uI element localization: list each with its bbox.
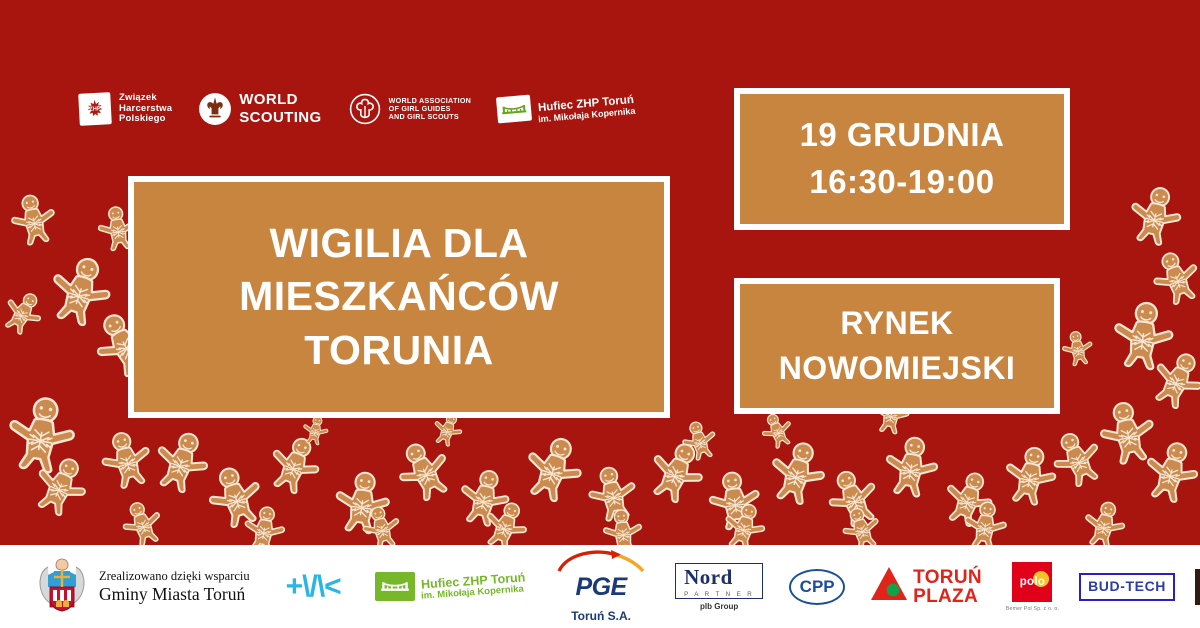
poster-canvas: ZHP Związek Harcerstwa Polskiego WORLD (0, 0, 1200, 628)
gingerbread-man-cookie-icon (1090, 394, 1166, 470)
gingerbread-man-cookie-icon (834, 500, 889, 545)
gingerbread-man-cookie-icon (1057, 327, 1099, 369)
gingerbread-cookie (956, 497, 1013, 545)
gingerbread-cookie (140, 421, 221, 505)
event-location-text: RYNEK NOWOMIEJSKI (779, 301, 1016, 391)
gingerbread-man-cookie-icon (1119, 179, 1192, 252)
sponsor-bud-tech-box: BUD-TECH (1079, 573, 1175, 601)
gingerbread-cookie (1137, 340, 1200, 422)
gingerbread-cookie (384, 430, 466, 515)
gingerbread-man-cookie-icon (0, 282, 53, 342)
gingerbread-man-cookie-icon (1142, 243, 1200, 312)
gingerbread-man-cookie-icon (196, 457, 274, 535)
svg-text:ZHP: ZHP (89, 106, 101, 113)
gingerbread-cookie (355, 500, 410, 545)
sponsor-nord-group: plb Group (700, 602, 738, 611)
sponsor-nord-partner: Nord P A R T N E R plb Group (675, 563, 763, 611)
top-partner-logos: ZHP Związek Harcerstwa Polskiego WORLD (78, 82, 636, 136)
gingerbread-man-cookie-icon (957, 497, 1013, 545)
gingerbread-man-cookie-icon (355, 500, 408, 545)
gingerbread-cookie (701, 466, 769, 539)
gingerbread-cookie (634, 430, 718, 516)
sponsor-polo-market: polo Bemer Pol Sp. z o. o. (1006, 562, 1059, 612)
gingerbread-cookie (757, 433, 838, 517)
gingerbread-cookie (1103, 295, 1183, 379)
gingerbread-cookie (35, 246, 125, 339)
gingerbread-man-cookie-icon (636, 430, 718, 512)
zhp-lily-shield-icon: ZHP (78, 92, 112, 126)
gingerbread-cookie (472, 493, 539, 545)
logo-world-scouting: WORLD SCOUTING (198, 91, 321, 127)
gingerbread-cookie (91, 424, 163, 500)
bridge-icon (375, 572, 415, 601)
sponsor-cpp: CPP (789, 569, 845, 605)
gingerbread-cookie (0, 282, 53, 346)
cpp-ellipse-icon: CPP (789, 569, 845, 605)
gingerbread-man-cookie-icon (257, 426, 333, 502)
gingerbread-man-cookie-icon (1040, 421, 1114, 495)
bridge-icon (497, 92, 531, 126)
gingerbread-cookie (0, 389, 87, 484)
sponsor-bud-tech-wordmark: BUD-TECH (1088, 578, 1166, 594)
event-date-text: 19 GRUDNIA 16:30-19:00 (800, 112, 1005, 206)
event-location-panel: RYNEK NOWOMIEJSKI (734, 278, 1060, 414)
gingerbread-cookie (1057, 327, 1100, 374)
logo-wagggs: WORLD ASSOCIATION OF GIRL GUIDES AND GIR… (348, 92, 472, 126)
sponsor-torun-plaza: TORUŃ PLAZA (869, 565, 982, 608)
gingerbread-man-cookie-icon (21, 445, 101, 525)
gingerbread-man-cookie-icon (758, 433, 837, 512)
gingerbread-man-cookie-icon (384, 430, 464, 510)
gingerbread-man-cookie-icon (815, 459, 891, 535)
logo-hufiec-zhp-torun-label: Hufiec ZHP Toruń im. Mikołaja Kopernika (538, 98, 636, 121)
logo-zwiazek-harcerstwa-polskiego: ZHP Związek Harcerstwa Polskiego (78, 92, 172, 126)
gingerbread-man-cookie-icon (1104, 295, 1183, 374)
gingerbread-man-cookie-icon (0, 389, 87, 479)
event-date-panel: 19 GRUDNIA 16:30-19:00 (734, 88, 1070, 230)
gingerbread-man-cookie-icon (1076, 495, 1134, 545)
sponsor-pge-wordmark: PGE (575, 573, 626, 602)
logo-world-scouting-label: WORLD SCOUTING (239, 91, 321, 127)
sponsor-cpp-wordmark: CPP (800, 577, 835, 597)
sponsor-nord-box: Nord P A R T N E R (675, 563, 763, 599)
event-title-panel: WIGILIA DLA MIESZKAŃCÓW TORUNIA (128, 176, 670, 418)
gingerbread-man-cookie-icon (1139, 340, 1200, 418)
gingerbread-cookie (1132, 433, 1200, 514)
event-title-text: WIGILIA DLA MIESZKAŃCÓW TORUNIA (239, 217, 559, 377)
gingerbread-cookie (994, 439, 1066, 515)
logo-wagggs-label: WORLD ASSOCIATION OF GIRL GUIDES AND GIR… (389, 97, 472, 121)
gingerbread-man-cookie-icon (715, 496, 774, 545)
sponsor-bar: Zrealizowano dzięki wsparciu Gminy Miast… (0, 545, 1200, 628)
torun-coat-of-arms-icon (34, 553, 90, 620)
gingerbread-man-cookie-icon (326, 466, 398, 538)
gingerbread-cookie (754, 407, 803, 459)
plaza-triangle-icon (869, 565, 909, 608)
gingerbread-cookie (19, 445, 101, 529)
fleur-de-lis-icon (198, 92, 232, 126)
gingerbread-man-cookie-icon (995, 439, 1066, 510)
gingerbread-man-cookie-icon (3, 188, 65, 250)
gingerbread-cookie (236, 501, 292, 545)
sponsor-pge-sub: Toruń S.A. (571, 609, 631, 623)
gingerbread-man-cookie-icon (449, 462, 519, 532)
gingerbread-cookie (579, 460, 646, 531)
sponsor-lenkiewicz-box: · 1945 · LENKIEWICZ (1195, 569, 1200, 605)
sponsor-bud-tech: BUD-TECH (1079, 573, 1175, 601)
gingerbread-man-cookie-icon (113, 494, 172, 545)
sponsor-nord-wordmark: Nord (684, 565, 754, 590)
gingerbread-cookie (815, 459, 892, 539)
gingerbread-cookie (1074, 495, 1133, 545)
sponsor-gmina-miasta-torun-label: Zrealizowano dzięki wsparciu Gminy Miast… (99, 569, 250, 604)
gingerbread-man-cookie-icon (473, 493, 538, 545)
gingerbread-cookie (931, 462, 1004, 538)
gingerbread-cookie (297, 412, 334, 452)
sponsor-torun-plaza-label: TORUŃ PLAZA (913, 568, 982, 606)
gingerbread-cookie (1142, 243, 1200, 317)
sponsor-tak-wordmark: +\/\< (286, 570, 341, 604)
gingerbread-man-cookie-icon (597, 506, 648, 545)
gingerbread-cookie (255, 426, 332, 506)
sponsor-pge-torun-sa: PGE Toruń S.A. (555, 550, 647, 623)
gingerbread-man-cookie-icon (701, 466, 769, 534)
gingerbread-man-cookie-icon (1133, 433, 1200, 510)
gingerbread-cookie (1090, 394, 1167, 475)
gingerbread-man-cookie-icon (37, 246, 125, 334)
gingerbread-cookie (1118, 179, 1192, 257)
gingerbread-man-cookie-icon (512, 426, 597, 511)
gingerbread-cookie (3, 188, 66, 255)
sponsor-hufiec-zhp-torun: Hufiec ZHP Toruń im. Mikołaja Kopernika (375, 572, 525, 601)
sponsor-nord-sub: P A R T N E R (684, 591, 754, 598)
sponsor-tak: +\/\< (286, 570, 341, 604)
gingerbread-cookie (875, 430, 948, 507)
gingerbread-cookie (1040, 421, 1116, 500)
gingerbread-man-cookie-icon (237, 501, 293, 545)
gingerbread-man-cookie-icon (933, 462, 1005, 534)
gingerbread-cookie (675, 415, 726, 469)
gingerbread-man-cookie-icon (675, 415, 724, 464)
trefoil-icon (348, 92, 382, 126)
logo-hufiec-zhp-torun: Hufiec ZHP Toruń im. Mikołaja Kopernika (497, 92, 636, 126)
gingerbread-man-cookie-icon (579, 460, 645, 526)
gingerbread-cookie (597, 506, 648, 545)
gingerbread-cookie (714, 496, 775, 545)
sponsor-polo-wordmark: polo (1020, 576, 1045, 588)
logo-zwiazek-harcerstwa-polskiego-label: Związek Harcerstwa Polskiego (119, 93, 172, 125)
gingerbread-man-cookie-icon (142, 421, 221, 500)
gingerbread-cookie (448, 462, 520, 537)
gingerbread-cookie (196, 457, 276, 540)
gingerbread-man-cookie-icon (91, 424, 162, 495)
gingerbread-cookie (326, 466, 399, 543)
sponsor-lenkiewicz: · 1945 · LENKIEWICZ (1195, 569, 1200, 605)
gingerbread-cookie (113, 494, 174, 545)
sponsor-hufiec-zhp-torun-label: Hufiec ZHP Toruń im. Mikołaja Kopernika (421, 574, 525, 599)
gingerbread-cookie (834, 500, 891, 545)
sponsor-polo-sub: Bemer Pol Sp. z o. o. (1006, 606, 1059, 612)
gingerbread-cookie (510, 426, 596, 515)
polo-square-icon: polo (1012, 562, 1052, 602)
gingerbread-man-cookie-icon (876, 430, 948, 502)
sponsor-gmina-miasta-torun: Zrealizowano dzięki wsparciu Gminy Miast… (34, 553, 250, 620)
